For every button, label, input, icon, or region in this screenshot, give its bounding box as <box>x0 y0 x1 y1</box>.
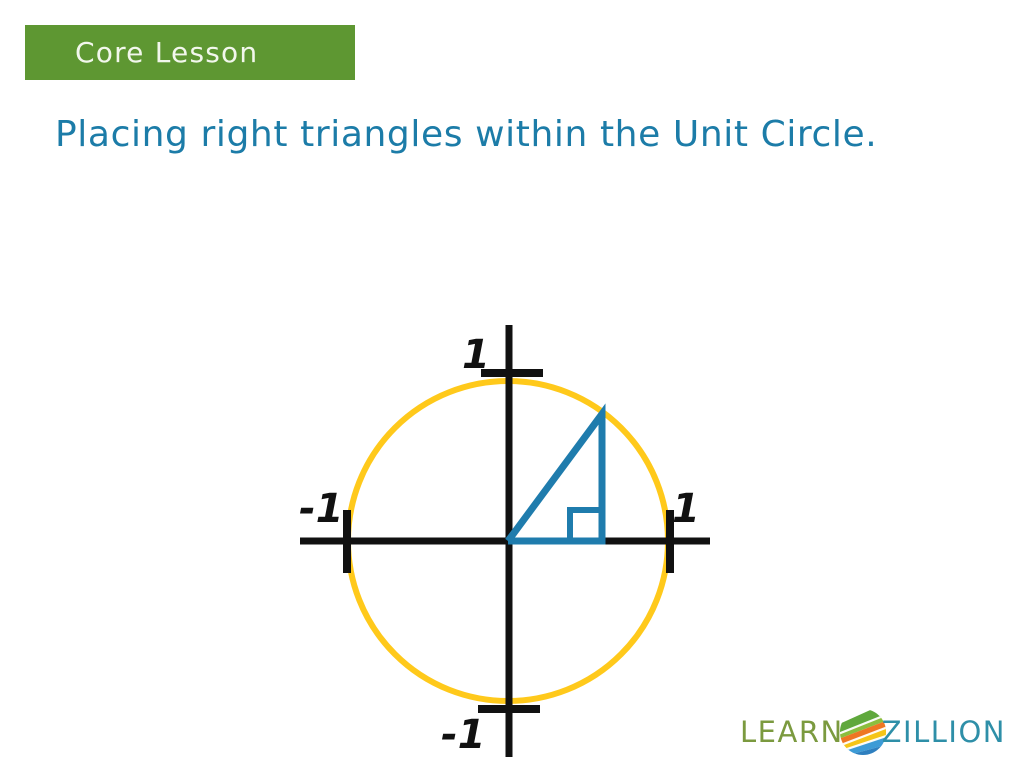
tick-label-bottom: -1 <box>441 712 485 758</box>
tick-label-top: 1 <box>462 332 490 378</box>
logo-text-learn: LEARN <box>740 715 844 749</box>
unit-circle-svg: 1 -1 -1 1 <box>0 0 1024 768</box>
tick-label-left: -1 <box>299 486 343 532</box>
logo-text-zillion: ZILLION <box>882 715 1006 749</box>
right-triangle-outline <box>508 414 602 541</box>
right-angle-marker <box>570 510 602 541</box>
learnzillion-logo: LEARN ZILLION <box>740 706 1000 758</box>
globe-icon <box>839 708 887 756</box>
tick-label-right: 1 <box>672 486 700 532</box>
unit-circle-figure: 1 -1 -1 1 <box>0 0 1024 768</box>
